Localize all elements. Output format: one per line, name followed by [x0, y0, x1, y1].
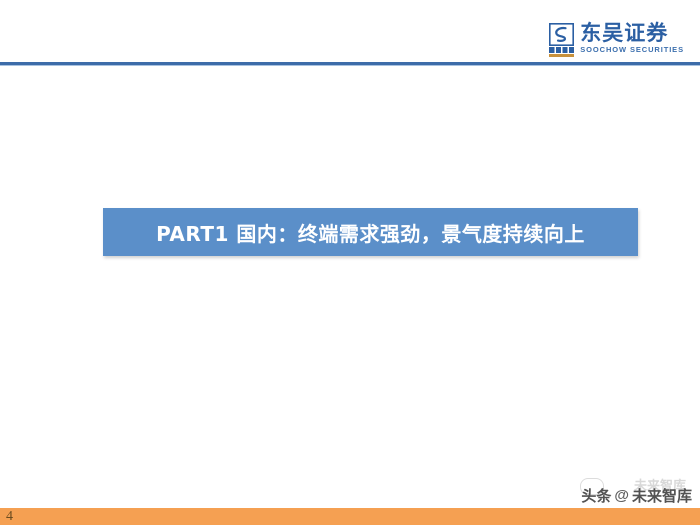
brand-text-block: 东吴证券 SOOCHOW SECURITIES [580, 22, 684, 55]
logo-bar-pattern-icon [549, 47, 574, 53]
brand-name-cn: 东吴证券 [580, 22, 684, 44]
slide-canvas: 东吴证券 SOOCHOW SECURITIES PART1 国内：终端需求强劲，… [0, 0, 700, 525]
section-title-banner: PART1 国内：终端需求强劲，景气度持续向上 [103, 208, 638, 256]
watermark-account: 未来智库 [632, 485, 692, 506]
header-divider-highlight [0, 65, 700, 66]
watermark: 头条 @ 未来智库 [581, 485, 692, 506]
logo-gold-underline-icon [549, 54, 574, 57]
footer-bar [0, 508, 700, 525]
watermark-source: 头条 [581, 485, 611, 506]
page-number: 4 [6, 509, 13, 524]
swoosh-glyph-icon [549, 23, 574, 46]
brand-name-en: SOOCHOW SECURITIES [580, 45, 684, 55]
soochow-swoosh-logo-icon [548, 23, 574, 57]
section-title-text: PART1 国内：终端需求强劲，景气度持续向上 [156, 218, 585, 247]
at-symbol-icon: @ [614, 487, 629, 504]
brand-logo: 东吴证券 SOOCHOW SECURITIES [548, 22, 684, 57]
